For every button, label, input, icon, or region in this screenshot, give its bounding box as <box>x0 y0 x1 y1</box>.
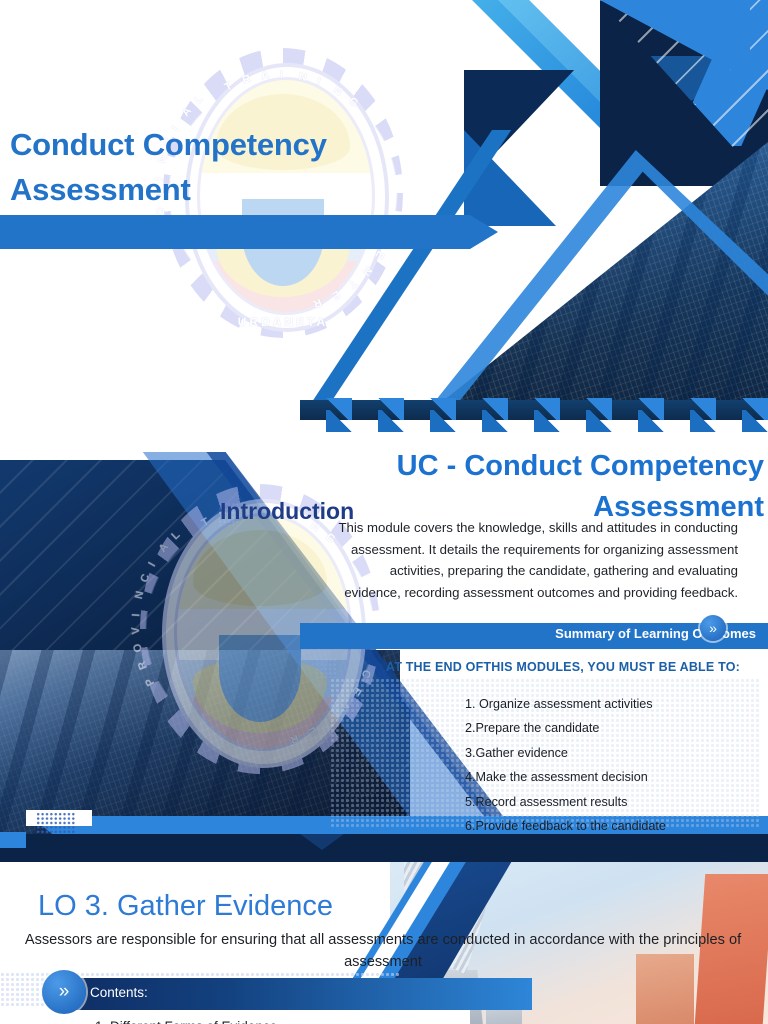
slide3-subtitle: Assessors are responsible for ensuring t… <box>18 930 748 974</box>
bottom-navy-notch <box>300 834 344 850</box>
list-item: 1. Organize assessment activities <box>465 697 768 711</box>
slide-1-cover: URDANETA TRAININGPROVINCIALCENTER Conduc… <box>0 0 768 432</box>
double-chevron-icon: » <box>709 620 717 636</box>
list-item: 2.Prepare the candidate <box>465 721 768 735</box>
slide2-section-heading: Introduction <box>220 498 354 525</box>
slide-2-introduction: TRAININGPROVINCIALCENTER UC - Conduct Co… <box>0 432 768 862</box>
list-item: 4.Make the assessment decision <box>465 770 768 784</box>
contents-item: 1. Different Forms of Evidence <box>95 1019 277 1024</box>
double-chevron-icon: » <box>59 981 70 1003</box>
slides-document: URDANETA TRAININGPROVINCIALCENTER Conduc… <box>0 0 768 1024</box>
slide-3-lo3: LO 3. Gather Evidence Assessors are resp… <box>0 862 768 1024</box>
contents-label: Contents: <box>90 985 148 1000</box>
learning-outcomes-list: 1. Organize assessment activities 2.Prep… <box>400 697 768 844</box>
contents-bar: Contents: <box>62 978 532 1010</box>
dot-grid-icon-bottom <box>36 812 76 834</box>
list-item: 5.Record assessment results <box>465 795 768 809</box>
slide1-title-line1: Conduct Competency <box>10 123 440 168</box>
double-chevron-badge-slide2[interactable]: » <box>700 615 726 641</box>
list-item: 6.Provide feedback to the candidate <box>465 819 768 833</box>
title-underline-bar <box>0 215 470 249</box>
slide2-paragraph: This module covers the knowledge, skills… <box>330 517 738 603</box>
slide1-title-line2: Assessment <box>10 168 440 213</box>
slide2-lead-in: AT THE END OFTHIS MODULES, YOU MUST BE A… <box>360 658 740 677</box>
slide3-title: LO 3. Gather Evidence <box>38 890 333 923</box>
summary-band: Summary of Learning Outcomes <box>300 623 768 649</box>
double-chevron-badge-contents[interactable]: » <box>42 970 86 1014</box>
slide1-title: Conduct Competency Assessment <box>10 123 440 213</box>
list-item: 3.Gather evidence <box>465 746 768 760</box>
